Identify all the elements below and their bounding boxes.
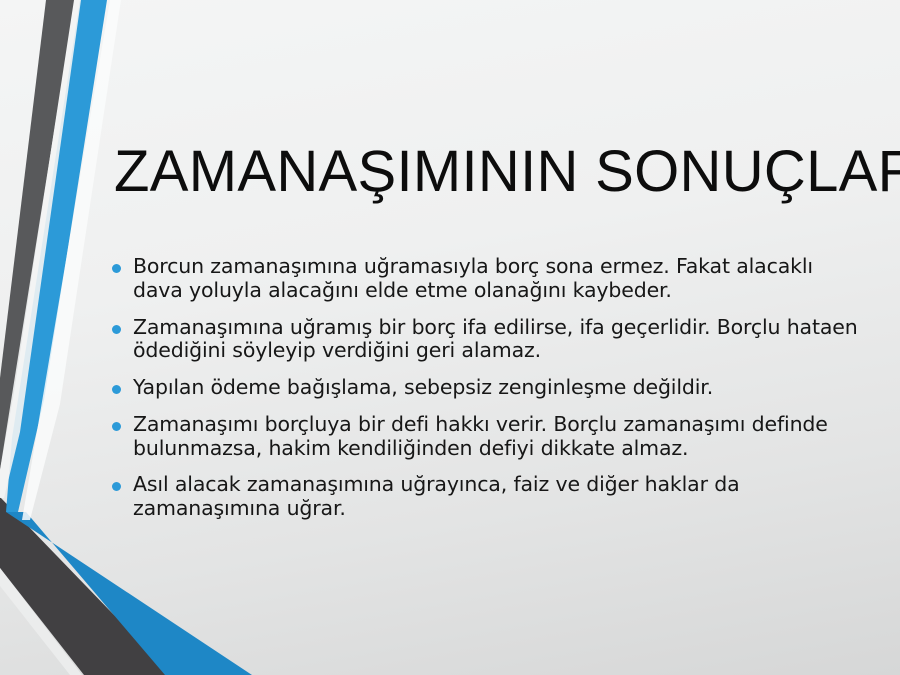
bullet-dot-icon — [112, 264, 121, 273]
bullet-dot-icon — [112, 422, 121, 431]
decor-blue-stripe-lower — [6, 512, 252, 675]
decor-light-gap-stripe — [0, 0, 81, 498]
slide-body-content: Borcun zamanaşımına uğramasıyla borç son… — [104, 255, 864, 521]
decor-dark-stripe-lower — [0, 497, 172, 675]
slide-title: ZAMANAŞIMININ SONUÇLARI — [114, 142, 874, 203]
list-item: Yapılan ödeme bağışlama, sebepsiz zengin… — [104, 376, 864, 400]
list-item: Asıl alacak zamanaşımına uğrayınca, faiz… — [104, 473, 864, 521]
list-item: Borcun zamanaşımına uğramasıyla borç son… — [104, 255, 864, 303]
presentation-slide: ZAMANAŞIMININ SONUÇLARI Borcun zamanaşım… — [0, 0, 900, 675]
list-item: Zamanaşımı borçluya bir defi hakkı verir… — [104, 413, 864, 461]
decor-dark-stripe-upper — [0, 0, 74, 470]
list-item-text: Borcun zamanaşımına uğramasıyla borç son… — [133, 255, 864, 303]
list-item-text: Asıl alacak zamanaşımına uğrayınca, faiz… — [133, 473, 864, 521]
bullet-dot-icon — [112, 385, 121, 394]
decor-light-gap-stripe-lower — [0, 568, 84, 675]
bullet-dot-icon — [112, 482, 121, 491]
list-item-text: Zamanaşımı borçluya bir defi hakkı verir… — [133, 413, 864, 461]
list-item: Zamanaşımına uğramış bir borç ifa edilir… — [104, 316, 864, 364]
decor-blue-stripe-upper — [6, 0, 107, 512]
list-item-text: Zamanaşımına uğramış bir borç ifa edilir… — [133, 316, 864, 364]
bullet-dot-icon — [112, 325, 121, 334]
list-item-text: Yapılan ödeme bağışlama, sebepsiz zengin… — [133, 376, 864, 400]
